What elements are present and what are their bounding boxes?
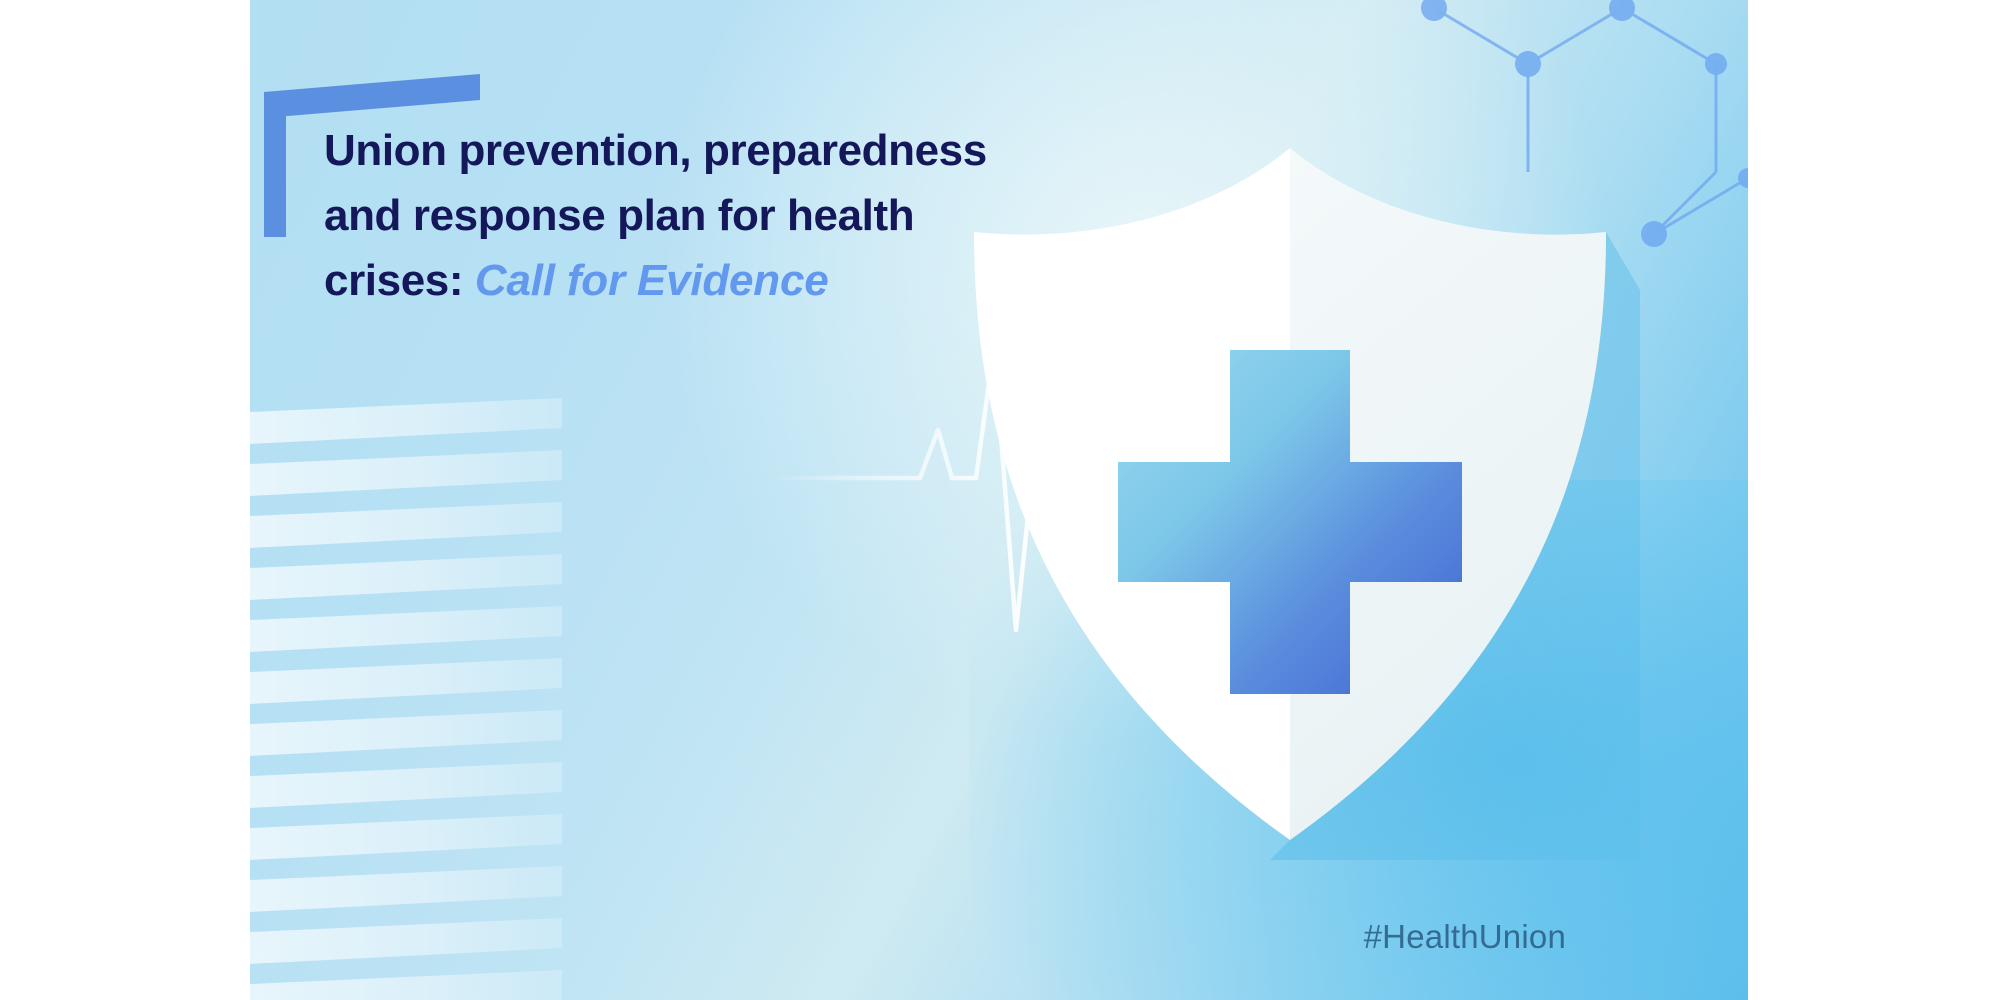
background-blue-wash (969, 480, 1748, 1000)
headline-line-1: Union prevention, preparedness (324, 118, 1064, 183)
image-canvas: Union prevention, preparedness and respo… (0, 0, 2000, 1000)
headline-line-3: crises: Call for Evidence (324, 248, 1064, 313)
headline-emphasis: Call for Evidence (475, 256, 829, 305)
hashtag-label: #HealthUnion (1364, 918, 1566, 956)
molecule-lattice-icon (1338, 0, 1748, 330)
medical-cross-icon (1118, 350, 1462, 694)
health-union-banner: Union prevention, preparedness and respo… (250, 0, 1748, 1000)
page-title: Union prevention, preparedness and respo… (324, 118, 1064, 313)
shield-shadow (1270, 232, 1640, 860)
background-light-wash (669, 0, 1598, 730)
stripe-pattern-icon (250, 398, 562, 1000)
headline-line-2: and response plan for health (324, 183, 1064, 248)
headline-line-3-prefix: crises: (324, 256, 463, 305)
ecg-heartbeat-icon (770, 330, 1530, 650)
